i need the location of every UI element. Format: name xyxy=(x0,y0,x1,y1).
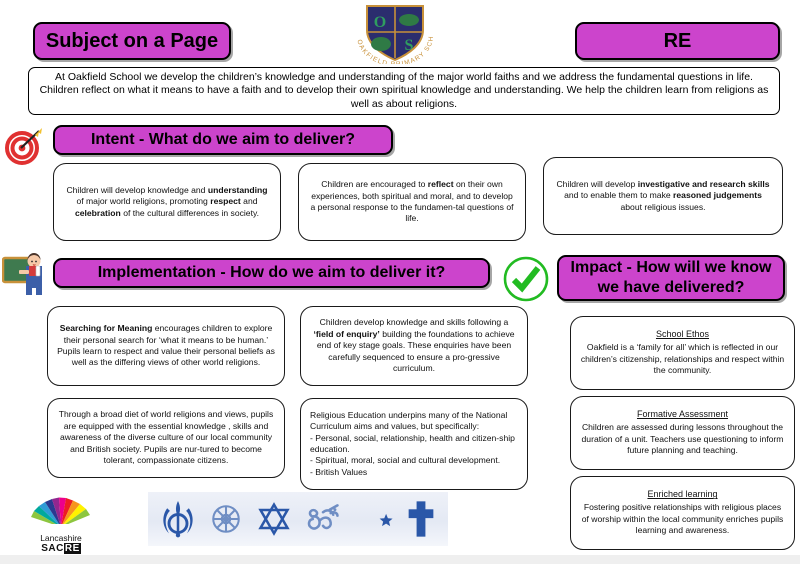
target-dart-icon xyxy=(4,126,44,166)
lancashire-sacre-logo: Lancashire SACRE xyxy=(25,497,97,553)
crest-letter-o: O xyxy=(374,14,386,31)
sacre-word-part1: SAC xyxy=(41,543,64,554)
impact-card-title: Enriched learning xyxy=(647,489,717,499)
teacher-blackboard-icon xyxy=(2,252,48,300)
intent-card-text: Children will develop investigative and … xyxy=(553,179,773,213)
implementation-card-text: Searching for Meaning encourages childre… xyxy=(57,323,275,369)
subject-name-label: RE xyxy=(664,30,692,53)
sacre-word-part2: RE xyxy=(64,543,81,554)
sacre-fan-icon xyxy=(25,497,97,527)
impact-card-title: School Ethos xyxy=(656,329,709,339)
om-hindu-icon xyxy=(304,502,342,536)
intent-section-heading: Intent - What do we aim to deliver? xyxy=(53,125,393,155)
intent-card: Children are encouraged to reflect on th… xyxy=(298,163,526,241)
impact-card-text: Oakfield is a ‘family for all’ which is … xyxy=(580,342,785,376)
green-check-icon xyxy=(501,254,551,304)
implementation-card-text: Children develop knowledge and skills fo… xyxy=(310,317,518,374)
dharma-wheel-buddhist-icon xyxy=(209,502,243,536)
intent-card-text: Children are encouraged to reflect on th… xyxy=(308,179,516,225)
subject-name-banner: RE xyxy=(575,22,780,60)
impact-card: School Ethos Oakfield is a ‘family for a… xyxy=(570,316,795,390)
impact-card: Enriched learning Fostering positive rel… xyxy=(570,476,795,550)
sacre-lancashire-label: Lancashire xyxy=(25,533,97,543)
implementation-card: Searching for Meaning encourages childre… xyxy=(47,306,285,386)
khanda-sikh-icon xyxy=(160,499,196,539)
bottom-strip xyxy=(0,555,800,564)
implementation-section-heading: Implementation - How do we aim to delive… xyxy=(53,258,490,288)
subject-on-a-page-label: Subject on a Page xyxy=(46,30,218,53)
intro-statement-text: At Oakfield School we develop the childr… xyxy=(39,71,769,112)
intent-card: Children will develop knowledge and unde… xyxy=(53,163,281,241)
implementation-card: Children develop knowledge and skills fo… xyxy=(300,306,528,386)
intro-statement-box: At Oakfield School we develop the childr… xyxy=(28,67,780,115)
subject-on-a-page-poster: Subject on a Page RE O S OAKFIELD PRIMAR… xyxy=(0,0,800,564)
intent-card-text: Children will develop knowledge and unde… xyxy=(63,185,271,219)
sacre-word-label: SACRE xyxy=(25,543,97,554)
intent-heading-label: Intent - What do we aim to deliver? xyxy=(91,131,355,149)
faith-symbols-band xyxy=(148,492,448,546)
impact-section-heading: Impact - How will we know we have delive… xyxy=(557,255,785,301)
impact-card-text: Children are assessed during lessons thr… xyxy=(580,422,785,456)
implementation-card-text: Religious Education underpins many of th… xyxy=(310,410,518,479)
cross-christian-icon xyxy=(406,499,436,539)
crest-letter-s: S xyxy=(405,37,414,54)
impact-card: Formative Assessment Children are assess… xyxy=(570,396,795,470)
subject-on-a-page-banner: Subject on a Page xyxy=(33,22,231,60)
implementation-card: Through a broad diet of world religions … xyxy=(47,398,285,478)
impact-card-title: Formative Assessment xyxy=(637,409,728,419)
implementation-card: Religious Education underpins many of th… xyxy=(300,398,528,490)
school-crest-icon: O S OAKFIELD PRIMARY SCHOOL xyxy=(347,2,443,64)
star-of-david-jewish-icon xyxy=(256,501,292,537)
implementation-heading-label: Implementation - How do we aim to delive… xyxy=(98,264,446,282)
implementation-card-text: Through a broad diet of world religions … xyxy=(57,409,275,466)
intent-card: Children will develop investigative and … xyxy=(543,157,783,235)
impact-heading-label: Impact - How will we know we have delive… xyxy=(559,258,783,298)
impact-card-text: Fostering positive relationships with re… xyxy=(580,502,785,536)
star-and-crescent-islam-icon xyxy=(355,501,393,537)
